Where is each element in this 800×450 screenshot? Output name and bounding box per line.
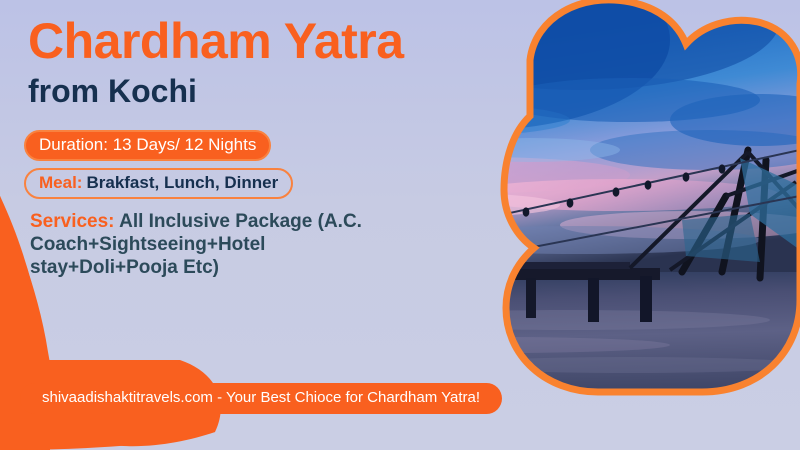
duration-badge-row: Duration: 13 Days/ 12 Nights [24, 130, 271, 161]
meal-badge-label: Meal: [39, 173, 82, 192]
meal-badge-value: Brakfast, Lunch, Dinner [82, 173, 278, 192]
services-label: Services: [30, 211, 115, 232]
page-subtitle: from Kochi [28, 72, 448, 110]
meal-badge-row: Meal:Brakfast, Lunch, Dinner [24, 168, 293, 199]
duration-badge: Duration: 13 Days/ 12 Nights [24, 130, 271, 161]
page-title: Chardham Yatra [28, 14, 448, 68]
promo-banner: Chardham Yatra from Kochi Duration: 13 D… [0, 0, 800, 450]
services-block: Services: All Inclusive Package (A.C. Co… [30, 210, 370, 279]
headline-block: Chardham Yatra from Kochi [28, 14, 448, 110]
footer-tagline: shivaadishaktitravels.com - Your Best Ch… [20, 383, 502, 414]
meal-badge: Meal:Brakfast, Lunch, Dinner [24, 168, 293, 199]
